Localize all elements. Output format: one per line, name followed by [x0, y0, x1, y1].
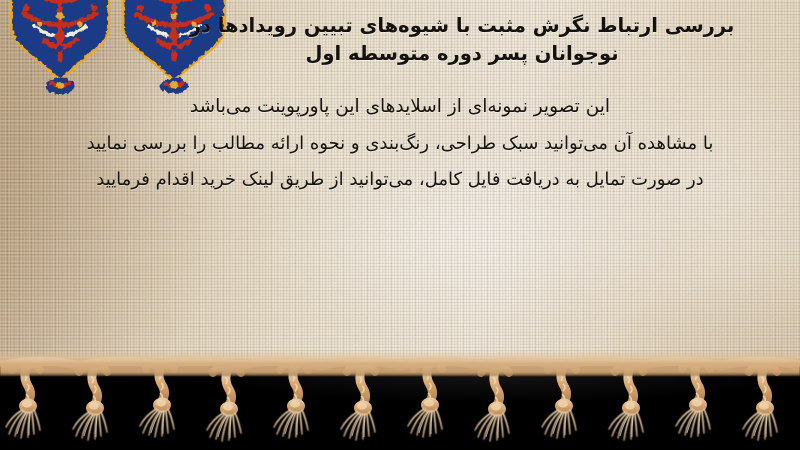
powerpoint-slide-preview: بررسی ارتباط نگرش مثبت با شیوه‌های تبیین… [0, 0, 800, 450]
slide-title-line-2: نوجوانان پسر دوره متوسطه اول [150, 40, 774, 68]
fringe-top-edge-fuzz [0, 350, 800, 376]
slide-body-line-2: با مشاهده آن می‌توانید سبک طراحی، رنگ‌بن… [22, 126, 778, 162]
slide-title-line-1: بررسی ارتباط نگرش مثبت با شیوه‌های تبیین… [150, 12, 774, 40]
slide-title: بررسی ارتباط نگرش مثبت با شیوه‌های تبیین… [0, 12, 800, 67]
slide-text-block: بررسی ارتباط نگرش مثبت با شیوه‌های تبیین… [0, 0, 800, 197]
slide-body-line-3: در صورت تمایل به دریافت فایل کامل، می‌تو… [22, 162, 778, 198]
slide-body: این تصویر نمونه‌ای از اسلایدهای این پاور… [0, 89, 800, 197]
carpet-tassel-fringe [0, 350, 800, 450]
slide-body-line-1: این تصویر نمونه‌ای از اسلایدهای این پاور… [22, 89, 778, 126]
